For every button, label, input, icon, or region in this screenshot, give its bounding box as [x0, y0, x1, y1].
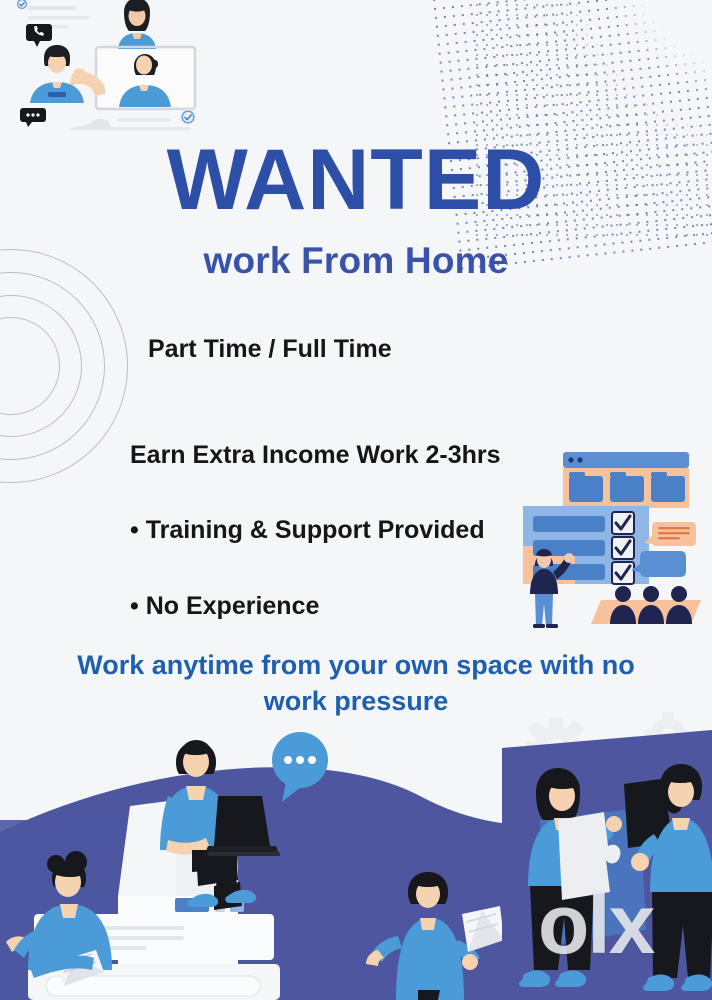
tagline-line-1: Work anytime from your own space with no: [77, 650, 635, 680]
poster-title: WANTED: [0, 138, 712, 222]
tagline-line-2: work pressure: [264, 686, 449, 716]
earnings-line: Earn Extra Income Work 2-3hrs: [130, 442, 712, 470]
call-bubble-icon: [26, 24, 52, 47]
benefit-bullet-experience: • No Experience: [130, 593, 712, 621]
olx-watermark: olx: [538, 882, 653, 966]
message-chip-icon: [20, 108, 46, 127]
employment-type-line: Part Time / Full Time: [148, 336, 712, 364]
poster-body: Part Time / Full Time Earn Extra Income …: [0, 336, 712, 719]
poster-tagline: Work anytime from your own space with no…: [0, 648, 712, 719]
headline-block: WANTED work From Home: [0, 138, 712, 282]
poster-subtitle: work From Home: [0, 240, 712, 282]
benefit-bullet-training: • Training & Support Provided: [130, 517, 712, 545]
video-call-scene: [8, 0, 213, 140]
poster-canvas: WANTED work From Home Part Time / Full T…: [0, 0, 712, 1000]
